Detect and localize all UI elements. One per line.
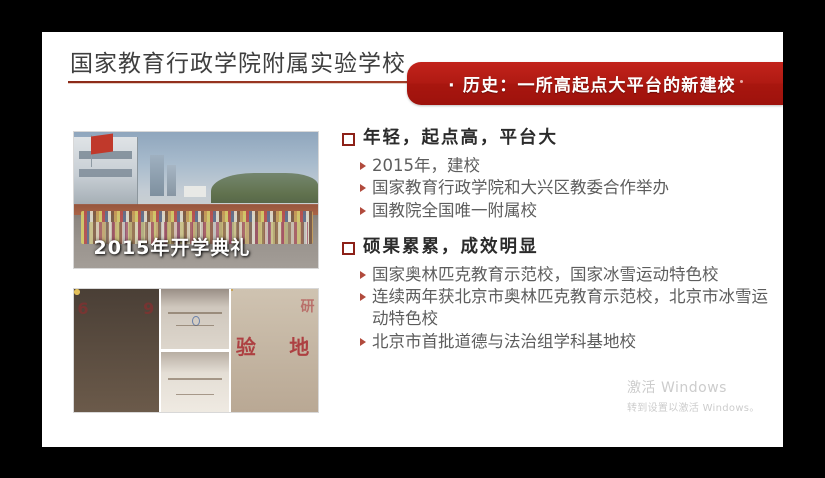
group-heading-text: 年轻，起点高，平台大 — [363, 127, 558, 151]
watermark-line-2: 转到设置以激活 Windows。 — [627, 399, 760, 414]
list-item: 国家教育行政学院和大兴区教委合作举办 — [360, 177, 772, 199]
content-group: 硕果累累，成效明显 国家奥林匹克教育示范校，国家冰雪运动特色校 连续两年获北京市… — [342, 236, 772, 353]
opening-ceremony-photo: 2015年开学典礼 — [73, 131, 319, 269]
collage-cell-trophy-right: 验 地 研 — [231, 289, 318, 412]
photo-truck — [184, 186, 206, 197]
list-item: 2015年，建校 — [360, 155, 772, 177]
square-bullet-icon — [342, 133, 355, 146]
collage-cell-trophy-left: 6 9 — [74, 289, 159, 412]
group-heading-text: 硕果累累，成效明显 — [363, 236, 539, 260]
group-heading-row: 硕果累累，成效明显 — [342, 236, 772, 260]
list-item-text: 国教院全国唯一附属校 — [372, 200, 537, 222]
list-item: 国教院全国唯一附属校 — [360, 200, 772, 222]
photo-caption: 2015年开学典礼 — [94, 233, 251, 260]
school-name-title: 国家教育行政学院附属实验学校 — [70, 44, 406, 78]
triangle-bullet-icon — [360, 162, 366, 170]
photo-treeline — [211, 173, 318, 203]
windows-activation-watermark: 激活 Windows 转到设置以激活 Windows。 — [627, 377, 760, 414]
triangle-bullet-icon — [360, 207, 366, 215]
triangle-bullet-icon — [360, 293, 366, 301]
triangle-bullet-icon — [360, 271, 366, 279]
watermark-line-1: 激活 Windows — [627, 377, 760, 397]
list-item-text: 连续两年获北京市奥林匹克教育示范校，北京市冰雪运动特色校 — [372, 286, 772, 330]
square-bullet-icon — [342, 242, 355, 255]
section-title-banner: · 历史：一所高起点大平台的新建校 — [407, 62, 783, 105]
collage-cell-certificates — [161, 289, 229, 412]
list-item: 北京市首批道德与法治组学科基地校 — [360, 331, 772, 353]
slide-body-content: 年轻，起点高，平台大 2015年，建校 国家教育行政学院和大兴区教委合作举办 国… — [342, 127, 772, 367]
triangle-bullet-icon — [360, 338, 366, 346]
banner-decoration-dot — [740, 80, 743, 83]
certificate-top — [161, 289, 229, 349]
list-item-text: 国家奥林匹克教育示范校，国家冰雪运动特色校 — [372, 264, 719, 286]
list-item-text: 北京市首批道德与法治组学科基地校 — [372, 331, 636, 353]
slide-header: 国家教育行政学院附属实验学校 · 历史：一所高起点大平台的新建校 — [42, 32, 783, 101]
certificate-bottom — [161, 352, 229, 412]
presentation-slide: 国家教育行政学院附属实验学校 · 历史：一所高起点大平台的新建校 2015年开学… — [42, 32, 783, 447]
section-title-text: · 历史：一所高起点大平台的新建校 — [448, 71, 736, 96]
list-item: 连续两年获北京市奥林匹克教育示范校，北京市冰雪运动特色校 — [360, 286, 772, 330]
awards-trophies-collage: 6 9 验 地 研 — [73, 288, 319, 413]
triangle-bullet-icon — [360, 184, 366, 192]
list-item-text: 2015年，建校 — [372, 155, 480, 177]
list-item-text: 国家教育行政学院和大兴区教委合作举办 — [372, 177, 669, 199]
photo-tower-building — [150, 155, 165, 196]
group-heading-row: 年轻，起点高，平台大 — [342, 127, 772, 151]
photo-national-flag — [91, 133, 113, 154]
list-item: 国家奥林匹克教育示范校，国家冰雪运动特色校 — [360, 264, 772, 286]
photo-tower-building-2 — [167, 165, 177, 196]
content-group: 年轻，起点高，平台大 2015年，建校 国家教育行政学院和大兴区教委合作举办 国… — [342, 127, 772, 222]
